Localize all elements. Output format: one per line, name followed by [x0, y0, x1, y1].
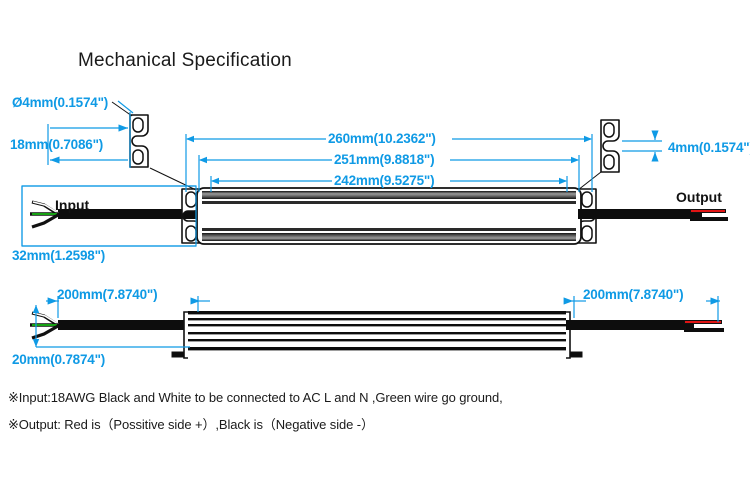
page-title: Mechanical Specification [78, 50, 292, 72]
dimension-body-depth: 20mm(0.7874") [12, 352, 105, 367]
tab-waist-dimension [622, 133, 662, 159]
left-tab-detail-callout [112, 102, 196, 190]
dimension-input-lead: 200mm(7.8740") [57, 287, 157, 302]
dimension-overall-length: 260mm(10.2362") [328, 131, 436, 146]
dimension-body-height: 32mm(1.2598") [12, 248, 105, 263]
bottom-input-cable [30, 313, 188, 338]
dimension-tab-width: 18mm(0.7086") [10, 137, 103, 152]
output-cable [578, 209, 728, 219]
dimension-tab-waist: 4mm(0.1574") [668, 140, 750, 155]
input-label: Input [55, 197, 89, 213]
note-input: ※Input:18AWG Black and White to be conne… [8, 390, 503, 406]
dimension-mounting-length: 251mm(9.8818") [334, 152, 434, 167]
top-view-assembly [30, 188, 728, 244]
housing-body [197, 188, 581, 244]
bottom-output-cable [566, 320, 724, 330]
bottom-view-assembly [30, 311, 724, 358]
dimension-case-length: 242mm(9.5275") [334, 173, 434, 188]
dimension-hole-diameter: Ø4mm(0.1574") [12, 95, 108, 110]
right-tab-detail-callout [578, 120, 619, 190]
bottom-housing-profile [172, 311, 582, 358]
note-output: ※Output: Red is（Possitive side +）,Black … [8, 414, 374, 433]
dimension-output-lead: 200mm(7.8740") [583, 287, 683, 302]
output-label: Output [676, 189, 722, 205]
